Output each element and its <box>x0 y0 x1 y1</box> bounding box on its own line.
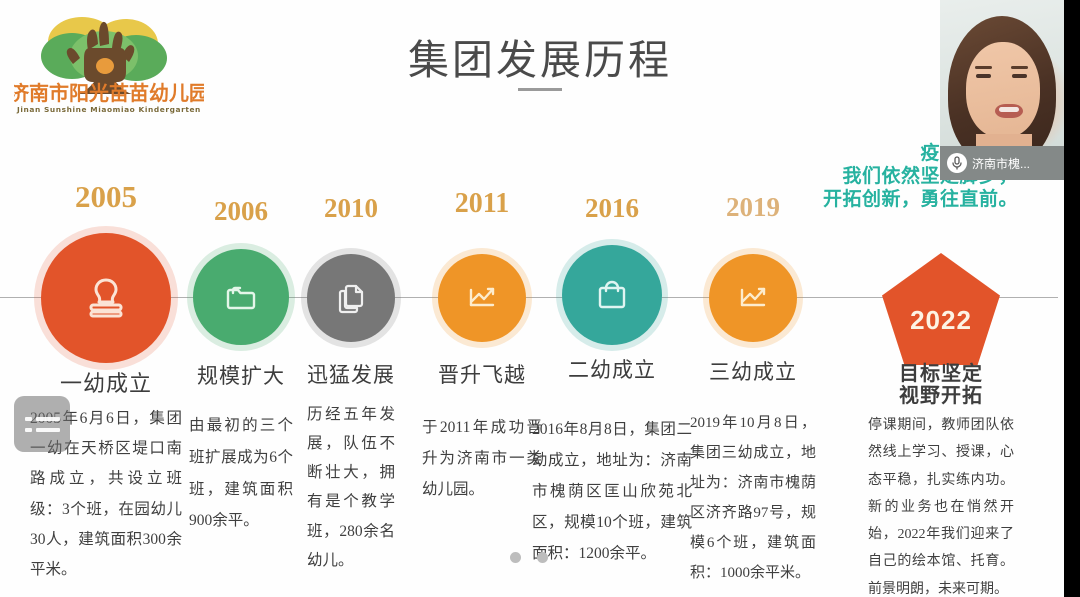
folder-icon <box>221 277 261 317</box>
list-line <box>36 417 60 421</box>
list-dot <box>25 417 32 421</box>
node-heading: 三幼成立 <box>709 361 797 385</box>
node-body: 于2011年成功晋升为济南市一类幼儿园。 <box>422 412 542 505</box>
node-body: 停课期间，教师团队依然线上学习、授课，心态平稳，扎实练内功。新的业务也在悄然开始… <box>868 412 1014 597</box>
year-label: 2005 <box>75 179 137 215</box>
pagination-dot[interactable] <box>537 552 548 563</box>
node-heading: 迅猛发展 <box>307 364 395 388</box>
year-label: 2022 <box>910 305 972 336</box>
right-black-gutter <box>1064 0 1080 597</box>
year-label: 2010 <box>324 193 378 224</box>
participant-name-bar: 济南市槐... <box>940 146 1064 180</box>
video-mouth <box>995 104 1023 118</box>
year-label: 2019 <box>726 192 780 223</box>
svg-text:Jinan Sunshine Miaomiao Kinder: Jinan Sunshine Miaomiao Kindergarten <box>16 105 201 114</box>
pagination-dots[interactable] <box>0 552 1058 563</box>
node-marker-pentagon[interactable]: 2022 <box>882 253 1000 365</box>
year-label: 2016 <box>585 193 639 224</box>
list-menu-icon[interactable] <box>14 396 70 452</box>
caption-line-3: 开拓创新，勇往直前。 <box>823 188 1018 211</box>
documents-icon <box>332 279 370 317</box>
year-label: 2011 <box>455 188 509 220</box>
video-face <box>966 42 1040 138</box>
title-underline <box>518 88 562 91</box>
node-marker[interactable] <box>562 245 662 345</box>
node-body: 2016年8月8日，集团二幼成立，地址为：济南市槐荫区匡山欣苑北区，规模10个班… <box>532 414 692 569</box>
list-dot <box>25 428 32 432</box>
chart-up-icon <box>463 279 501 317</box>
year-label: 2006 <box>214 196 268 227</box>
participant-name: 济南市槐... <box>972 155 1030 172</box>
node-heading: 一幼成立 <box>60 372 152 397</box>
chart-up-icon <box>734 279 772 317</box>
node-marker[interactable] <box>709 254 797 342</box>
node-body: 历经五年发展，队伍不断壮大，拥有是个教学班，280余名幼儿。 <box>307 400 395 575</box>
video-brow-left <box>975 66 992 69</box>
node-marker[interactable] <box>193 249 289 345</box>
node-heading: 目标坚定 视野开拓 <box>899 363 983 408</box>
node-marker[interactable] <box>307 254 395 342</box>
node-marker[interactable] <box>438 254 526 342</box>
node-heading: 规模扩大 <box>197 365 285 389</box>
page-title: 集团发展历程 <box>0 26 1080 86</box>
node-heading: 晋升飞越 <box>438 364 526 388</box>
node-body: 由最初的三个班扩展成为6个班，建筑面积900余平。 <box>189 410 293 537</box>
node-marker[interactable] <box>41 233 171 363</box>
participant-video-tile[interactable]: 济南市槐... <box>940 0 1064 180</box>
list-line <box>36 428 60 432</box>
video-brow-right <box>1011 66 1028 69</box>
microphone-icon[interactable] <box>947 153 967 173</box>
pagination-dot[interactable] <box>510 552 521 563</box>
video-eye-right <box>1012 74 1027 78</box>
slide-canvas: 济南市阳光苗苗幼儿园 Jinan Sunshine Miaomiao Kinde… <box>0 0 1080 597</box>
video-eye-left <box>976 74 991 78</box>
node-heading: 二幼成立 <box>568 359 656 383</box>
shopping-bag-icon <box>591 274 633 316</box>
stamp-icon <box>80 272 132 324</box>
